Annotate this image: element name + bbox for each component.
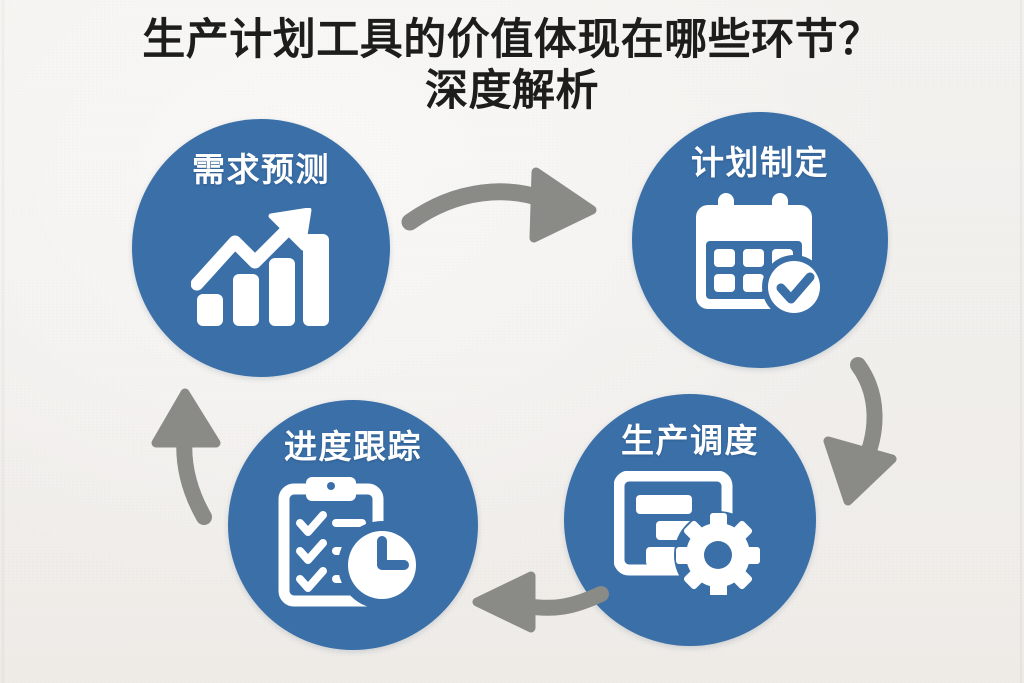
curved-arrow-down-icon [820, 355, 930, 515]
title-line-primary: 生产计划工具的价值体现在哪些环节？ [0, 16, 1024, 65]
cycle-node-production-scheduling[interactable]: 生产调度 [564, 394, 816, 646]
calendar-check-icon [690, 193, 830, 321]
cycle-node-demand-forecasting[interactable]: 需求预测 [132, 119, 390, 377]
bar-chart-growth-arrow-icon [191, 208, 331, 330]
curved-arrow-up-icon [140, 385, 235, 530]
curved-arrow-right-icon [400, 160, 610, 270]
infographic-poster: 生产计划工具的价值体现在哪些环节？ 深度解析 需求预测 [0, 0, 1024, 683]
gantt-chart-gear-icon [614, 471, 766, 595]
cycle-node-label: 生产调度 [621, 424, 759, 457]
title-line-secondary: 深度解析 [0, 67, 1024, 116]
clipboard-checklist-clock-icon [278, 475, 428, 607]
cycle-node-progress-tracking[interactable]: 进度跟踪 [228, 400, 478, 650]
cycle-node-label: 计划制定 [691, 146, 829, 179]
cycle-node-label: 进度跟踪 [284, 430, 422, 463]
page-title: 生产计划工具的价值体现在哪些环节？ 深度解析 [0, 16, 1024, 116]
cycle-node-label: 需求预测 [192, 153, 330, 186]
cycle-node-plan-formulation[interactable]: 计划制定 [632, 112, 888, 368]
